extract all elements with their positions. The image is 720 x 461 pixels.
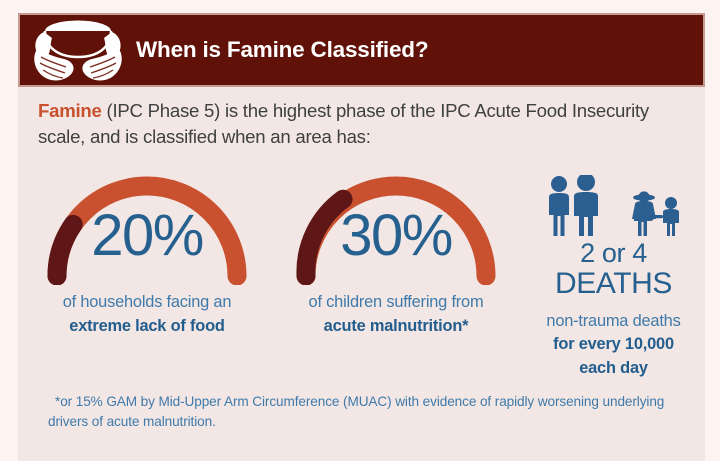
stat-caption-strong: acute malnutrition* <box>270 316 522 338</box>
deaths-word: DEATHS <box>522 268 705 299</box>
people-icons-group <box>522 167 705 237</box>
header-bar: When is Famine Classified? <box>18 13 705 87</box>
deaths-count: 2 or 4 <box>522 239 705 268</box>
two-adults-icon <box>542 175 608 237</box>
hands-holding-empty-bowl-icon <box>20 15 136 85</box>
intro-paragraph: Famine (IPC Phase 5) is the highest phas… <box>38 98 678 151</box>
stat-caption: non-trauma deaths <box>522 311 705 333</box>
gauge-20-percent: 20% <box>36 167 258 285</box>
stat-card-households: 20% of households facing an extreme lack… <box>18 167 270 337</box>
footnote: *or 15% GAM by Mid-Upper Arm Circumferen… <box>48 392 678 433</box>
intro-highlight: Famine <box>38 100 102 121</box>
stat-caption-strong-2: each day <box>522 358 705 380</box>
stat-card-children: 30% of children suffering from acute mal… <box>270 167 522 337</box>
stat-caption: of children suffering from <box>270 292 522 314</box>
stat-card-deaths: 2 or 4 DEATHS non-trauma deaths for ever… <box>522 167 705 380</box>
woman-and-child-icon <box>624 191 686 237</box>
stat-caption-strong: for every 10,000 <box>522 334 705 356</box>
body-panel: Famine (IPC Phase 5) is the highest phas… <box>18 87 705 461</box>
stats-row: 20% of households facing an extreme lack… <box>18 167 705 380</box>
intro-rest: (IPC Phase 5) is the highest phase of th… <box>38 100 649 147</box>
infographic-page: When is Famine Classified? Famine (IPC P… <box>0 0 720 461</box>
stat-caption-strong: extreme lack of food <box>24 316 270 338</box>
gauge-value-label: 20% <box>36 207 258 265</box>
gauge-30-percent: 30% <box>285 167 507 285</box>
page-title: When is Famine Classified? <box>136 37 428 63</box>
stat-caption: of households facing an <box>24 292 270 314</box>
gauge-value-label: 30% <box>285 207 507 265</box>
